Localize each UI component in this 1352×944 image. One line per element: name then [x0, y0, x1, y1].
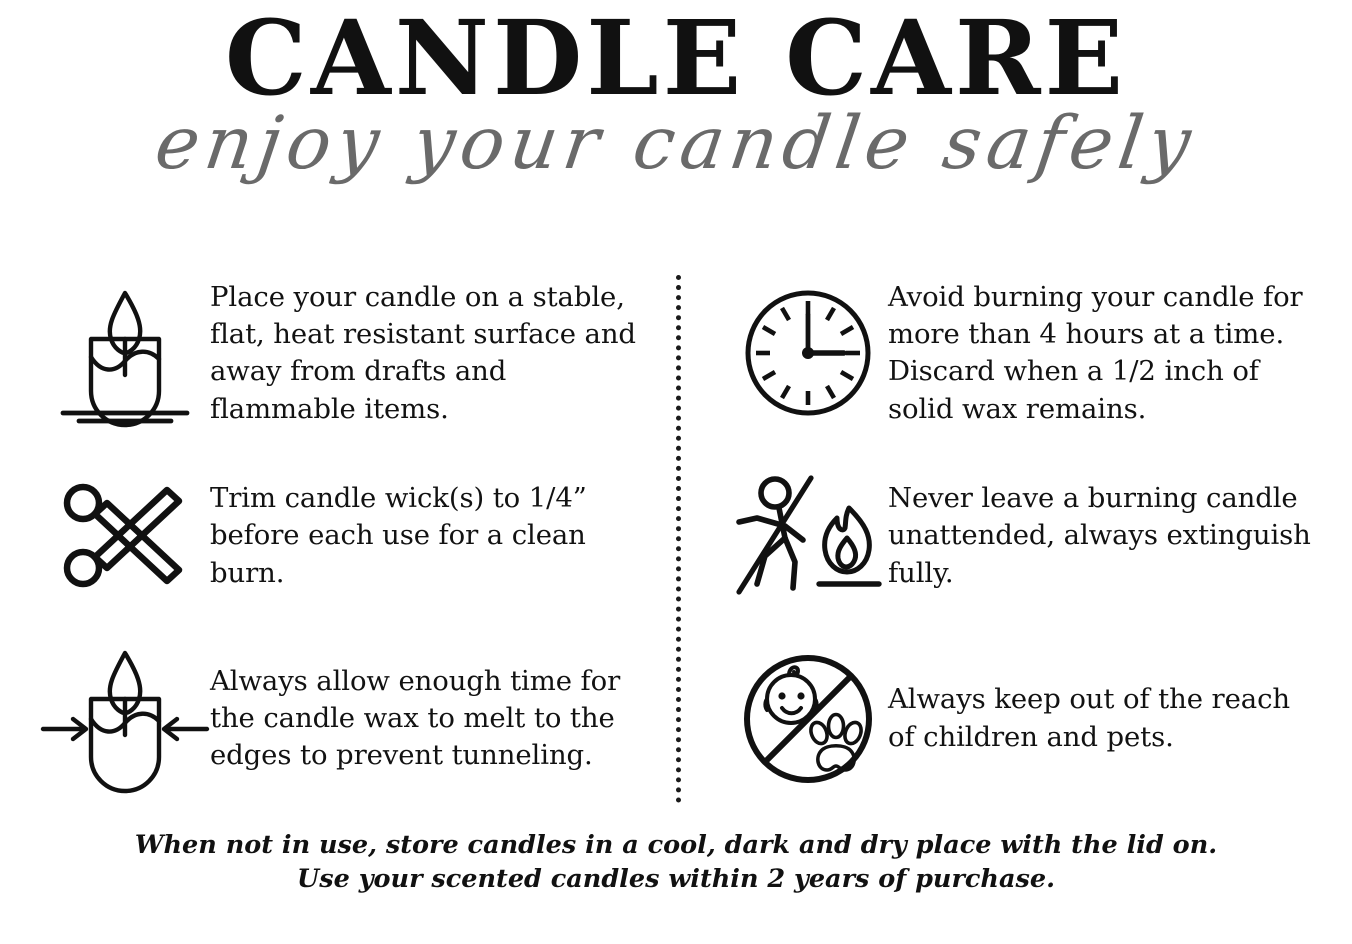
tip-item: Always allow enough time for the candle … — [40, 627, 658, 810]
page-title: CANDLE CARE — [0, 6, 1352, 111]
tip-text: Always keep out of the reach of children… — [888, 681, 1322, 756]
tip-text: Place your candle on a stable, flat, hea… — [210, 279, 658, 429]
no-person-near-fire-icon — [728, 474, 888, 598]
tip-item: Place your candle on a stable, flat, hea… — [40, 262, 658, 445]
page-subtitle: enjoy your candle safely — [0, 107, 1352, 180]
tips-column-left: Place your candle on a stable, flat, hea… — [0, 262, 676, 810]
header: CANDLE CARE enjoy your candle safely — [0, 0, 1352, 180]
tip-item: Trim candle wick(s) to 1/4” before each … — [40, 445, 658, 628]
tip-item: Avoid burning your candle for more than … — [728, 262, 1322, 445]
tips-container: Place your candle on a stable, flat, hea… — [0, 262, 1352, 810]
tip-text: Never leave a burning candle unattended,… — [888, 480, 1322, 592]
tips-column-right: Avoid burning your candle for more than … — [676, 262, 1352, 810]
scissors-icon — [40, 476, 210, 596]
tip-item: Never leave a burning candle unattended,… — [728, 445, 1322, 628]
tip-text: Always allow enough time for the candle … — [210, 663, 658, 775]
tip-text: Avoid burning your candle for more than … — [888, 279, 1322, 429]
footer: When not in use, store candles in a cool… — [0, 828, 1352, 897]
candle-on-surface-icon — [40, 277, 210, 429]
footer-line-2: Use your scented candles within 2 years … — [0, 862, 1352, 896]
candle-melt-edges-icon — [40, 643, 210, 795]
tip-text: Trim candle wick(s) to 1/4” before each … — [210, 480, 658, 592]
clock-icon — [728, 287, 888, 419]
footer-line-1: When not in use, store candles in a cool… — [0, 828, 1352, 862]
tip-item: Always keep out of the reach of children… — [728, 627, 1322, 810]
no-children-pets-icon — [728, 652, 888, 786]
